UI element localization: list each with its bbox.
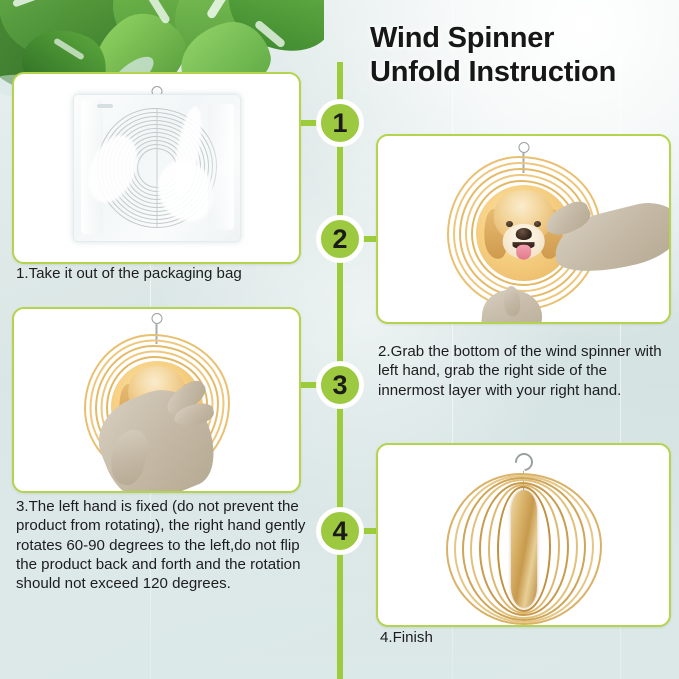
packaging-bag xyxy=(73,94,241,242)
connector-line-vertical xyxy=(337,262,343,370)
packaged-spinner-illustration xyxy=(14,74,299,262)
page-title: Wind Spinner Unfold Instruction xyxy=(370,22,676,89)
step-4-image-panel xyxy=(376,443,671,627)
step-3-image-panel xyxy=(12,307,301,493)
step-3-caption: 3.The left hand is fixed (do not prevent… xyxy=(16,497,322,594)
step-4-caption: 4.Finish xyxy=(380,628,580,647)
step-badge-4: 4 xyxy=(317,508,363,554)
three-dimensional-spinner xyxy=(448,475,600,623)
step-1-caption: 1.Take it out of the packaging bag xyxy=(16,264,316,283)
step-3-illustration xyxy=(14,309,299,491)
step-2-caption: 2.Grab the bottom of the wind spinner wi… xyxy=(378,342,674,400)
step-badge-2: 2 xyxy=(317,216,363,262)
finished-spinner-illustration xyxy=(378,445,669,625)
connector-line-vertical xyxy=(337,408,343,516)
step-badge-1: 1 xyxy=(317,100,363,146)
connector-line-vertical xyxy=(337,554,343,679)
page-title-line-2: Unfold Instruction xyxy=(370,56,676,90)
step-2-image-panel xyxy=(376,134,671,324)
step-1-image-panel xyxy=(12,72,301,264)
instruction-infographic: Wind Spinner Unfold Instruction xyxy=(0,0,679,679)
spinner-core xyxy=(511,490,537,608)
page-title-line-1: Wind Spinner xyxy=(370,22,676,56)
connector-line-vertical xyxy=(337,146,343,224)
step-2-illustration xyxy=(378,136,669,322)
step-badge-3: 3 xyxy=(317,362,363,408)
